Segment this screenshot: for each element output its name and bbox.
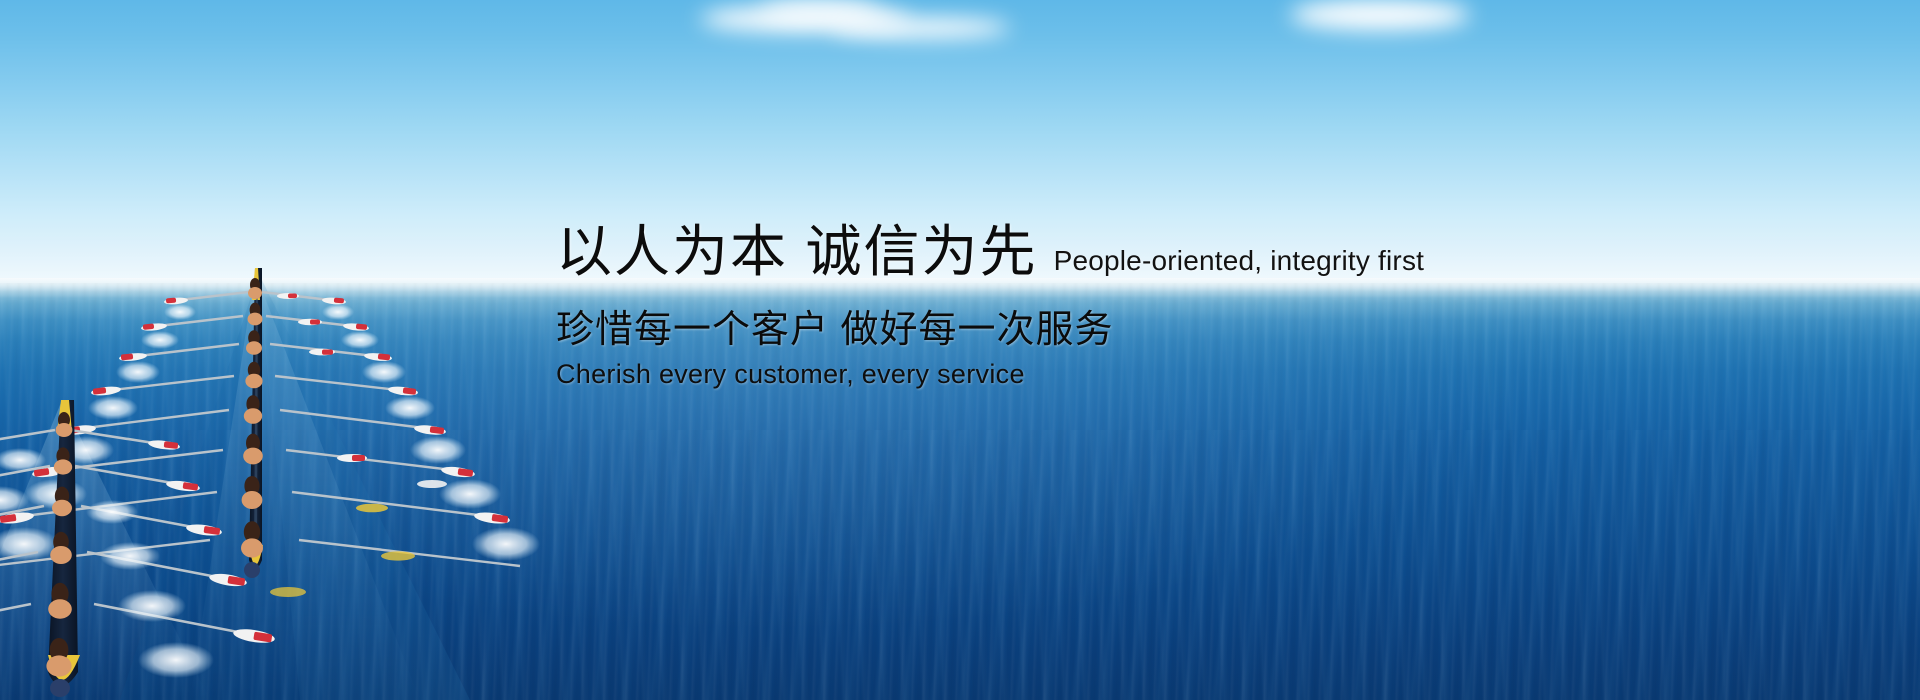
headline-row: 以人为本 诚信为先 People-oriented, integrity fir… <box>556 222 1456 282</box>
headline-chinese: 以人为本 诚信为先 <box>556 222 1038 282</box>
hero-banner: 以人为本 诚信为先 People-oriented, integrity fir… <box>0 0 1920 700</box>
subline-english: Cherish every customer, every service <box>556 359 1456 390</box>
headline-english: People-oriented, integrity first <box>1054 245 1425 277</box>
coxswain <box>50 679 70 697</box>
slogan-block: 以人为本 诚信为先 People-oriented, integrity fir… <box>556 222 1456 390</box>
coxswain <box>244 562 260 578</box>
subline-chinese: 珍惜每一个客户 做好每一次服务 <box>556 298 1456 353</box>
